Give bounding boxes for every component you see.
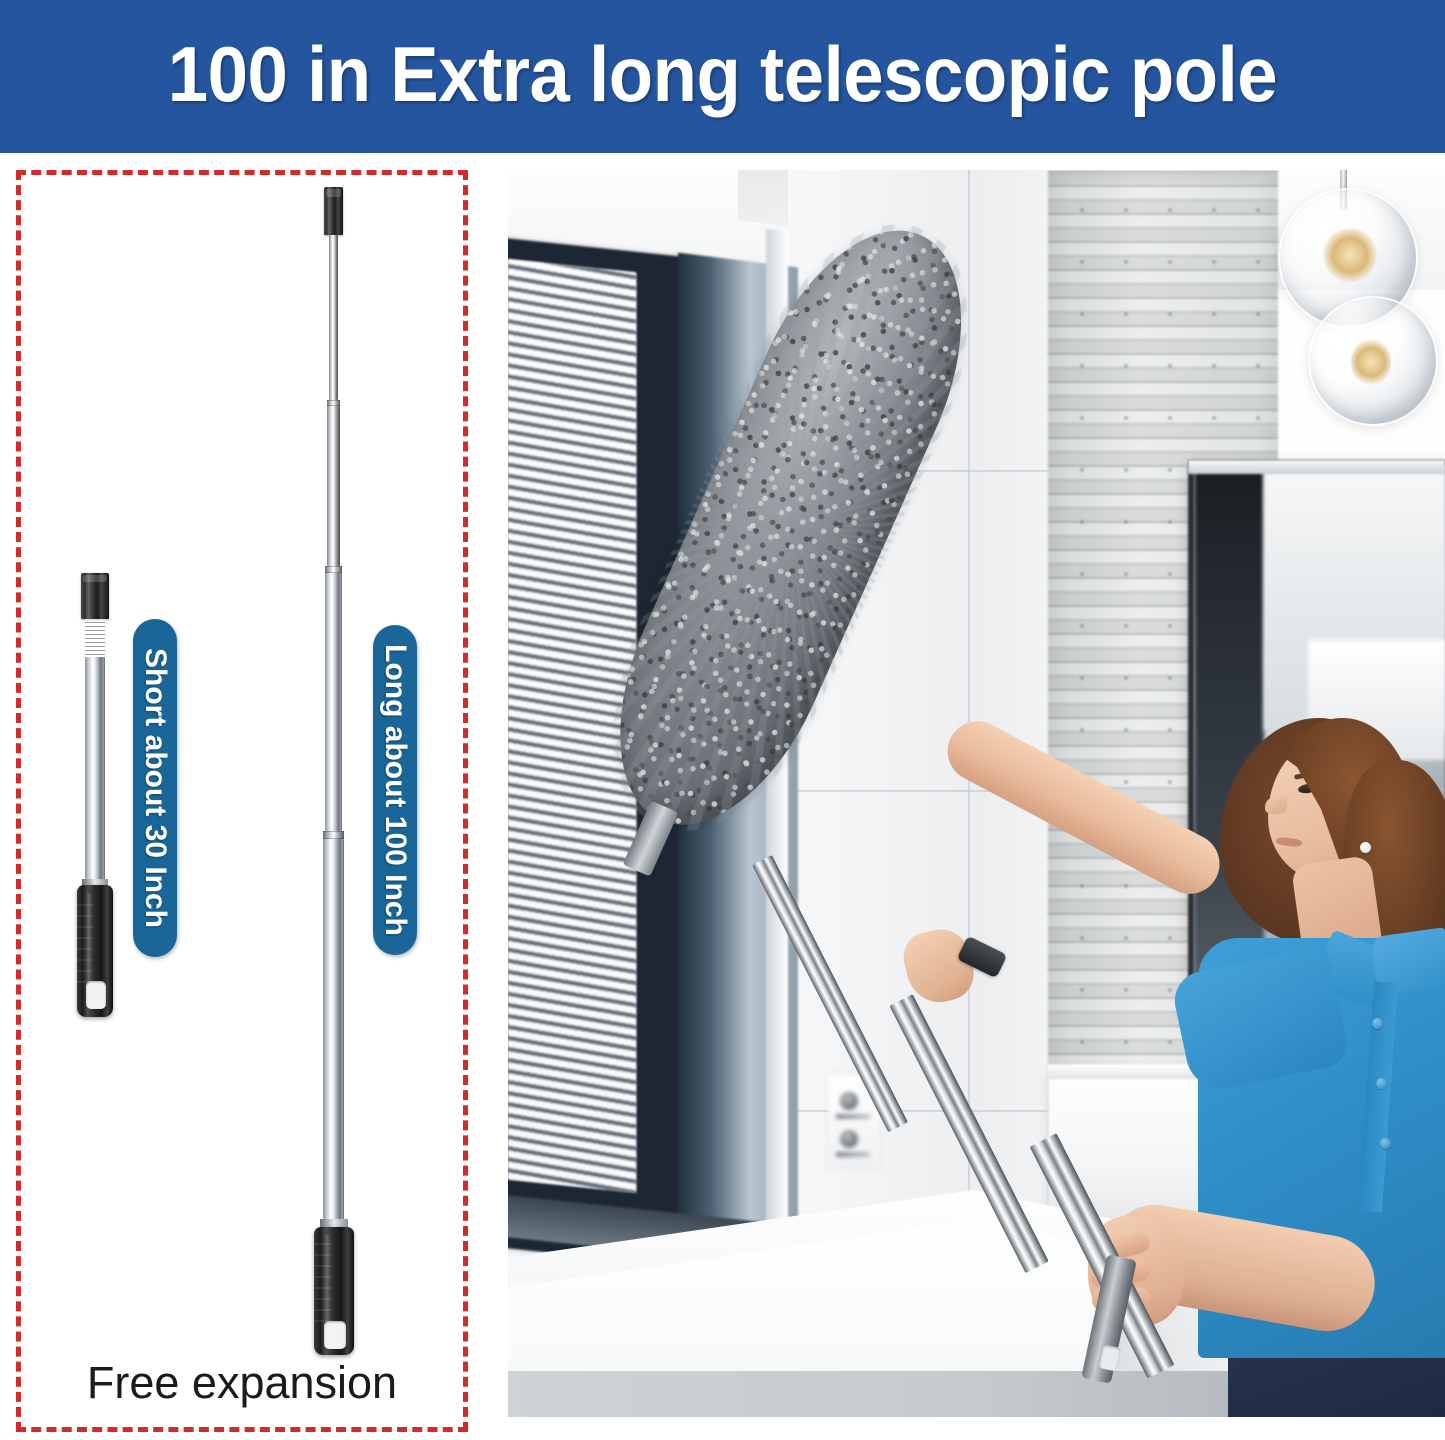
long-pole-callout: Long about 100 Inch xyxy=(373,625,417,955)
shower-control-lever xyxy=(836,1152,870,1157)
short-pole-shaft xyxy=(85,657,105,885)
long-pole-hang-hole xyxy=(324,1321,346,1349)
page-title: 100 in Extra long telescopic pole xyxy=(168,35,1277,119)
woman-shirt-button xyxy=(1372,1018,1383,1029)
short-pole-callout: Short about 30 Inch xyxy=(133,619,177,957)
shower-control-knob xyxy=(840,1092,858,1110)
short-grip-sheen xyxy=(86,893,92,988)
long-grip-sheen xyxy=(324,1235,330,1327)
short-pole-hang-hole xyxy=(86,981,106,1009)
long-pole-joint-3 xyxy=(323,831,344,839)
long-pole-callout-label: Long about 100 Inch xyxy=(378,644,412,936)
product-comparison-panel: Short about 30 Inch Long about 100 Inch … xyxy=(16,170,468,1432)
woman-shirt-button xyxy=(1376,1078,1387,1089)
long-pole-tip xyxy=(324,187,343,235)
mirror-top-edge xyxy=(1188,460,1445,474)
pendant-bulb-filament xyxy=(1351,338,1391,386)
long-pole-segment-1 xyxy=(329,235,338,400)
short-pole-threads xyxy=(85,619,105,659)
bathroom-usage-photo xyxy=(508,170,1445,1417)
short-pole-callout-label: Short about 30 Inch xyxy=(138,648,172,928)
header-banner: 100 in Extra long telescopic pole xyxy=(0,0,1445,153)
free-expansion-caption: Free expansion xyxy=(21,1357,463,1409)
woman-nose xyxy=(1265,796,1287,814)
pendant-bulb-filament xyxy=(1323,228,1377,282)
long-pole-segment-3 xyxy=(325,573,342,831)
woman-shirt-button xyxy=(1380,1138,1391,1149)
long-pole-joint-2 xyxy=(325,566,342,573)
woman-earring xyxy=(1360,842,1371,853)
short-pole-tip xyxy=(81,573,109,619)
shower-control-knob xyxy=(840,1130,858,1148)
product-infographic-page: 100 in Extra long telescopic pole xyxy=(0,0,1445,1440)
shower-control-lever xyxy=(836,1114,870,1119)
mirror-reflection-dark xyxy=(1194,466,1264,1014)
long-pole-segment-4 xyxy=(323,839,344,1219)
long-pole-segment-2 xyxy=(327,406,340,566)
